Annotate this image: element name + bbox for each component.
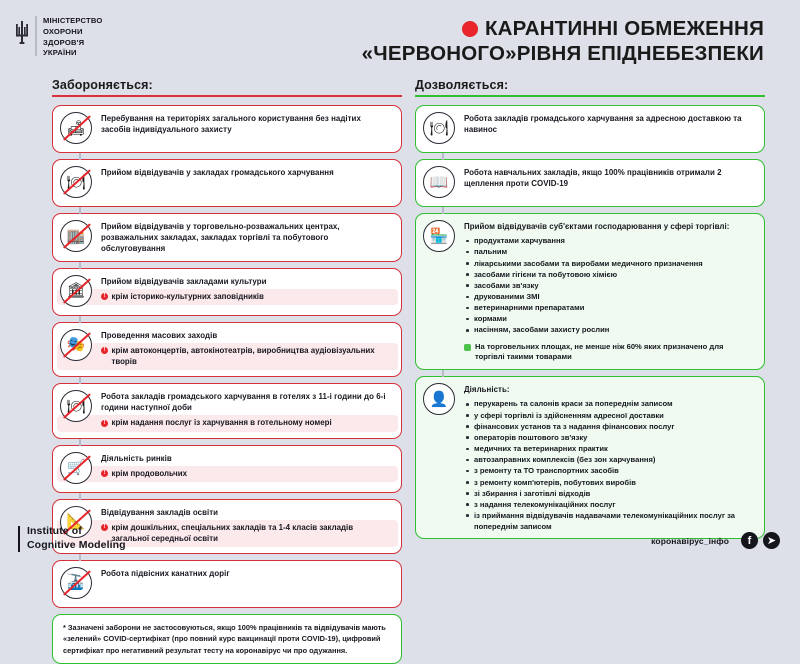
card-title: Діяльність ринків [101,453,392,464]
footnote-text: * Зазначені заборони не застосовуються, … [63,622,391,656]
prohibited-heading: Забороняється: [52,78,402,95]
card-connector [79,316,81,323]
worker-person-icon: 👤 [423,383,457,417]
allowed-column: Дозволяється: 🍽Робота закладів громадськ… [415,78,765,545]
card-connector [79,207,81,214]
no-shopping-mall-icon: 🏬 [60,220,94,254]
allowed-card: 📖Робота навчальних закладів, якщо 100% п… [415,159,765,207]
page-title: КАРАНТИННІ ОБМЕЖЕННЯ «ЧЕРВОНОГО»РІВНЯ ЕП… [362,18,764,66]
list-item: лікарськими засобами та виробами медично… [464,258,755,269]
allowed-note: На торговельних площах, не менше ніж 60%… [464,342,755,364]
allowed-list: 🍽Робота закладів громадського харчування… [415,105,765,539]
card-body: Прийом відвідувачів у торговельно-розваж… [101,220,392,255]
list-item: операторів поштового зв'язку [464,432,755,443]
list-item: у сфері торгівлі із здійсненням адресної… [464,410,755,421]
list-item: пальним [464,246,755,257]
card-connector [79,262,81,269]
list-item: медичних та ветеринарних практик [464,443,755,454]
exception-row: !крім продовольчих [101,468,392,479]
ministry-name: МІНІСТЕРСТВО ОХОРОНИ ЗДОРОВ'Я УКРАЇНИ [43,16,102,59]
open-book-icon-glyph: 📖 [423,166,455,198]
exception-text: крім автоконцертів, автокінотеатрів, вир… [112,345,393,367]
card-connector [79,153,81,160]
list-item: з надання телекомунікаційних послуг [464,499,755,510]
card-connector [442,370,444,377]
card-title: Робота навчальних закладів, якщо 100% пр… [464,167,755,189]
exception-row: !крім автоконцертів, автокінотеатрів, ви… [101,345,392,367]
list-item: перукарень та салонів краси за попередні… [464,398,755,409]
exception-block: !крім продовольчих [57,466,398,482]
card-body: Діяльність:перукарень та салонів краси з… [464,383,755,532]
card-connector [442,153,444,160]
exception-block: !крім історико-культурних заповідників [57,289,398,305]
allowed-bullet-list: продуктами харчуванняпальнимлікарськими … [464,235,755,335]
list-item: засобами зв'язку [464,280,755,291]
footnote-box: * Зазначені заборони не застосовуються, … [52,614,402,664]
prohibited-column: Забороняється: 🛋Перебування на територія… [52,78,402,664]
card-title: Прийом відвідувачів у торговельно-розваж… [101,221,392,255]
open-book-icon: 📖 [423,166,457,200]
ministry-line-2: ОХОРОНИ [43,27,102,38]
institute-divider [18,526,20,552]
card-title: Перебування на територіях загального кор… [101,113,392,135]
exclamation-badge-icon: ! [101,293,108,300]
exception-row: !крім надання послуг із харчування в гот… [101,417,392,428]
prohibited-card: 🛋Перебування на територіях загального ко… [52,105,402,153]
exception-text: крім історико-культурних заповідників [112,291,264,302]
ministry-line-4: УКРАЇНИ [43,48,102,59]
card-body: Робота підвісних канатних доріг [101,567,392,579]
prohibited-card: 🎭Проведення масових заходів!крім автокон… [52,322,402,377]
allowed-note-text: На торговельних площах, не менше ніж 60%… [475,342,755,364]
facebook-icon[interactable]: f [741,532,758,549]
card-body: Діяльність ринків!крім продовольчих [101,452,392,482]
card-title: Робота закладів громадського харчування … [101,391,392,413]
card-body: Прийом відвідувачів суб'єктами господарю… [464,220,755,363]
prohibited-card: 🍽Прийом відвідувачів у закладах громадсь… [52,159,402,207]
card-body: Робота закладів громадського харчування … [101,390,392,432]
list-item: фінансових установ та з надання фінансов… [464,421,755,432]
trident-emblem-icon [14,16,30,50]
card-body: Проведення масових заходів!крім автоконц… [101,329,392,370]
card-title: Прийом відвідувачів суб'єктами господарю… [464,221,755,232]
institute-name: Institute of Cognitive Modeling [27,525,126,553]
list-item: з ремонту та ТО транспортних засобів [464,465,755,476]
page-footer: Institute of Cognitive Modeling коронаві… [0,513,800,565]
green-marker-icon [464,344,471,351]
no-hotel-restaurant-icon: 🍽 [60,390,94,424]
exception-row: !крім історико-культурних заповідників [101,291,392,302]
list-item: ветеринарними препаратами [464,302,755,313]
card-body: Робота навчальних закладів, якщо 100% пр… [464,166,755,189]
card-title: Проведення масових заходів [101,330,392,341]
card-title: Діяльність: [464,384,755,395]
telegram-icon[interactable]: ➤ [763,532,780,549]
prohibited-card: 🏬Прийом відвідувачів у торговельно-розва… [52,213,402,262]
title-text-1: КАРАНТИННІ ОБМЕЖЕННЯ [485,18,764,41]
card-title: Прийом відвідувачів закладами культури [101,276,392,287]
red-level-dot-icon [462,21,478,37]
allowed-card: 🍽Робота закладів громадського харчування… [415,105,765,153]
exception-block: !крім автоконцертів, автокінотеатрів, ви… [57,343,398,370]
exclamation-badge-icon: ! [101,420,108,427]
list-item: насінням, засобами захисту рослин [464,324,755,335]
institute-line-1: Institute of [27,525,126,539]
storefront-icon: 🏪 [423,220,457,254]
ministry-line-3: ЗДОРОВ'Я [43,38,102,49]
card-connector [79,493,81,500]
prohibited-card: 🍽Робота закладів громадського харчування… [52,383,402,439]
exception-text: крім продовольчих [112,468,187,479]
list-item: продуктами харчування [464,235,755,246]
list-item: з ремонту комп'ютерів, побутових виробів [464,477,755,488]
social-links: коронавірус_інфо f ➤ [651,532,780,549]
prohibited-card: 🛒Діяльність ринків!крім продовольчих [52,445,402,493]
card-connector [79,439,81,446]
no-culture-venue-icon: 🏛 [60,275,94,309]
title-first-line: КАРАНТИННІ ОБМЕЖЕННЯ [362,18,764,41]
no-market-icon: 🛒 [60,452,94,486]
no-cable-car-icon: 🚠 [60,567,94,601]
card-title: Прийом відвідувачів у закладах громадськ… [101,167,392,178]
card-connector [442,207,444,214]
allowed-heading: Дозволяється: [415,78,765,95]
page-header: МІНІСТЕРСТВО ОХОРОНИ ЗДОРОВ'Я УКРАЇНИ КА… [0,0,800,78]
restaurant-delivery-icon: 🍽 [423,112,457,146]
list-item: зі збирання і заготівлі відходів [464,488,755,499]
card-body: Перебування на територіях загального кор… [101,112,392,135]
card-body: Прийом відвідувачів у закладах громадськ… [101,166,392,178]
storefront-icon-glyph: 🏪 [423,220,455,252]
no-restaurant-icon: 🍽 [60,166,94,200]
social-label: коронавірус_інфо [651,536,729,546]
card-connector [79,377,81,384]
prohibited-card: 🏛Прийом відвідувачів закладами культури!… [52,268,402,316]
allowed-underline [415,95,765,97]
no-mass-events-icon: 🎭 [60,329,94,363]
allowed-card: 🏪Прийом відвідувачів суб'єктами господар… [415,213,765,370]
card-title: Робота закладів громадського харчування … [464,113,755,135]
list-item: кормами [464,313,755,324]
card-title: Робота підвісних канатних доріг [101,568,392,579]
worker-person-icon-glyph: 👤 [423,383,455,415]
exclamation-badge-icon: ! [101,470,108,477]
ministry-line-1: МІНІСТЕРСТВО [43,16,102,27]
list-item: автозаправних комплексів (без зон харчув… [464,454,755,465]
exclamation-badge-icon: ! [101,347,108,354]
exception-block: !крім надання послуг із харчування в гот… [57,415,398,431]
ministry-of-health-logo: МІНІСТЕРСТВО ОХОРОНИ ЗДОРОВ'Я УКРАЇНИ [14,16,102,59]
no-mask-public-area-icon: 🛋 [60,112,94,146]
exception-text: крім надання послуг із харчування в готе… [112,417,332,428]
card-body: Прийом відвідувачів закладами культури!к… [101,275,392,305]
restaurant-delivery-icon-glyph: 🍽 [423,112,455,144]
card-body: Робота закладів громадського харчування … [464,112,755,135]
list-item: засобами гігієни та побутовою хімією [464,269,755,280]
institute-logo: Institute of Cognitive Modeling [18,525,126,553]
prohibited-card: 🚠Робота підвісних канатних доріг [52,560,402,608]
logo-divider [35,16,37,56]
list-item: друкованими ЗМІ [464,291,755,302]
prohibited-underline [52,95,402,97]
title-text-2: «ЧЕРВОНОГО»РІВНЯ ЕПІДНЕБЕЗПЕКИ [362,43,764,66]
institute-line-2: Cognitive Modeling [27,539,126,553]
